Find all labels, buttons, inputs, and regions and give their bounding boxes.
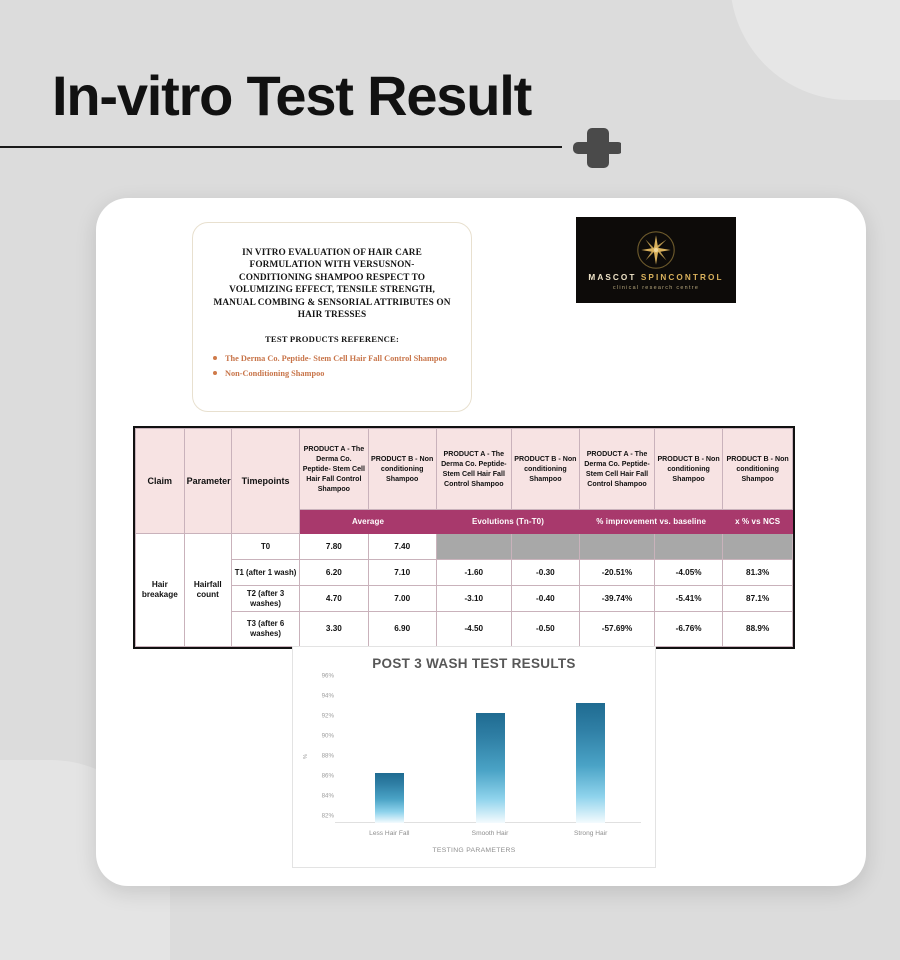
chart-y-tick: 94% bbox=[322, 693, 334, 700]
band-average: Average bbox=[300, 510, 437, 534]
cell-timepoint: T3 (after 6 washes) bbox=[231, 612, 299, 647]
table-row: T3 (after 6 washes) 3.30 6.90 -4.50 -0.5… bbox=[136, 612, 793, 647]
cell-value: 88.9% bbox=[723, 612, 793, 647]
reference-label: Non-Conditioning Shampoo bbox=[225, 369, 324, 378]
cell-empty bbox=[436, 534, 511, 560]
logo-name-accent: SPINCONTROL bbox=[641, 273, 724, 282]
reference-heading: TEST PRODUCTS REFERENCE: bbox=[205, 334, 459, 344]
column-header-parameter: Parameter bbox=[184, 429, 231, 534]
chart-y-tick: 92% bbox=[322, 713, 334, 720]
column-header-product: PRODUCT A - The Derma Co. Peptide-Stem C… bbox=[436, 429, 511, 510]
column-header-product: PRODUCT B - Non conditioning Shampoo bbox=[723, 429, 793, 510]
decorative-shape-top-right bbox=[730, 0, 900, 100]
cell-value: -57.69% bbox=[580, 612, 655, 647]
cell-parameter: Hairfall count bbox=[184, 534, 231, 647]
content-card: IN VITRO EVALUATION OF HAIR CARE FORMULA… bbox=[96, 198, 866, 886]
cell-claim: Hair breakage bbox=[136, 534, 185, 647]
column-header-product: PRODUCT B - Non conditioning Shampoo bbox=[511, 429, 579, 510]
column-header-product: PRODUCT B - Non conditioning Shampoo bbox=[654, 429, 722, 510]
bullet-icon bbox=[213, 356, 217, 360]
results-table: Claim Parameter Timepoints PRODUCT A - T… bbox=[135, 428, 793, 647]
list-item: Non-Conditioning Shampoo bbox=[205, 368, 459, 379]
cell-empty bbox=[511, 534, 579, 560]
chart-bar bbox=[576, 703, 605, 823]
chart-bar bbox=[375, 773, 404, 823]
chart-x-tick: Smooth Hair bbox=[472, 830, 509, 837]
cell-value: -6.76% bbox=[654, 612, 722, 647]
table-row: Hair breakage Hairfall count T0 7.80 7.4… bbox=[136, 534, 793, 560]
cell-value: 3.30 bbox=[300, 612, 368, 647]
cell-value: -0.50 bbox=[511, 612, 579, 647]
cell-value: -39.74% bbox=[580, 586, 655, 612]
chart-bar bbox=[476, 713, 505, 823]
cell-value: -3.10 bbox=[436, 586, 511, 612]
logo-subtitle: clinical research centre bbox=[613, 285, 699, 291]
cell-value: 7.80 bbox=[300, 534, 368, 560]
cell-timepoint: T2 (after 3 washes) bbox=[231, 586, 299, 612]
cell-value: -20.51% bbox=[580, 560, 655, 586]
chart-y-tick: 90% bbox=[322, 733, 334, 740]
column-header-claim: Claim bbox=[136, 429, 185, 534]
clover-plus-icon bbox=[573, 124, 621, 172]
band-improvement: % improvement vs. baseline bbox=[580, 510, 723, 534]
table-row: T1 (after 1 wash) 6.20 7.10 -1.60 -0.30 … bbox=[136, 560, 793, 586]
chart-y-tick: 84% bbox=[322, 793, 334, 800]
cell-timepoint: T0 bbox=[231, 534, 299, 560]
page-title: In-vitro Test Result bbox=[52, 63, 531, 128]
cell-value: -1.60 bbox=[436, 560, 511, 586]
cell-value: -0.40 bbox=[511, 586, 579, 612]
cell-empty bbox=[723, 534, 793, 560]
band-vs-ncs: x % vs NCS bbox=[723, 510, 793, 534]
cell-empty bbox=[654, 534, 722, 560]
cell-value: 7.10 bbox=[368, 560, 436, 586]
chart-y-tick: 86% bbox=[322, 773, 334, 780]
chart-y-tick: 82% bbox=[322, 813, 334, 820]
chart-y-tick: 88% bbox=[322, 753, 334, 760]
chart-plot-area: 96%94%92%90%88%86%84%82%Less Hair FallSm… bbox=[339, 683, 641, 823]
cell-value: -4.05% bbox=[654, 560, 722, 586]
cell-empty bbox=[580, 534, 655, 560]
lab-logo: MASCOT SPINCONTROL clinical research cen… bbox=[576, 217, 736, 303]
band-evolutions: Evolutions (Tn-T0) bbox=[436, 510, 579, 534]
column-header-timepoints: Timepoints bbox=[231, 429, 299, 534]
chart-title: POST 3 WASH TEST RESULTS bbox=[293, 656, 655, 671]
cell-value: -5.41% bbox=[654, 586, 722, 612]
starburst-emblem-icon bbox=[635, 229, 677, 271]
study-title: IN VITRO EVALUATION OF HAIR CARE FORMULA… bbox=[205, 233, 459, 321]
table-header-row: Claim Parameter Timepoints PRODUCT A - T… bbox=[136, 429, 793, 510]
table-row: T2 (after 3 washes) 4.70 7.00 -3.10 -0.4… bbox=[136, 586, 793, 612]
cell-value: 7.00 bbox=[368, 586, 436, 612]
logo-name: MASCOT SPINCONTROL bbox=[588, 273, 723, 282]
list-item: The Derma Co. Peptide- Stem Cell Hair Fa… bbox=[205, 353, 459, 364]
column-header-product: PRODUCT A - The Derma Co. Peptide- Stem … bbox=[300, 429, 368, 510]
reference-label: The Derma Co. Peptide- Stem Cell Hair Fa… bbox=[225, 354, 447, 363]
chart-x-axis-title: TESTING PARAMETERS bbox=[293, 847, 655, 854]
title-divider bbox=[0, 146, 562, 148]
study-description-box: IN VITRO EVALUATION OF HAIR CARE FORMULA… bbox=[192, 222, 472, 412]
cell-value: 6.90 bbox=[368, 612, 436, 647]
bullet-icon bbox=[213, 371, 217, 375]
cell-value: 6.20 bbox=[300, 560, 368, 586]
chart-x-tick: Strong Hair bbox=[574, 830, 607, 837]
chart-y-tick: 96% bbox=[322, 673, 334, 680]
logo-name-primary: MASCOT bbox=[588, 273, 640, 282]
column-header-product: PRODUCT A - The Derma Co. Peptide-Stem C… bbox=[580, 429, 655, 510]
cell-timepoint: T1 (after 1 wash) bbox=[231, 560, 299, 586]
cell-value: 81.3% bbox=[723, 560, 793, 586]
cell-value: -0.30 bbox=[511, 560, 579, 586]
table-body: Hair breakage Hairfall count T0 7.80 7.4… bbox=[136, 534, 793, 647]
chart-y-axis-label: % bbox=[303, 754, 309, 759]
cell-value: 7.40 bbox=[368, 534, 436, 560]
cell-value: 4.70 bbox=[300, 586, 368, 612]
column-header-product: PRODUCT B - Non conditioning Shampoo bbox=[368, 429, 436, 510]
cell-value: -4.50 bbox=[436, 612, 511, 647]
bar-chart-panel: POST 3 WASH TEST RESULTS % 96%94%92%90%8… bbox=[292, 646, 656, 868]
reference-list: The Derma Co. Peptide- Stem Cell Hair Fa… bbox=[205, 353, 459, 379]
results-table-container: Claim Parameter Timepoints PRODUCT A - T… bbox=[133, 426, 795, 649]
cell-value: 87.1% bbox=[723, 586, 793, 612]
chart-x-tick: Less Hair Fall bbox=[369, 830, 409, 837]
